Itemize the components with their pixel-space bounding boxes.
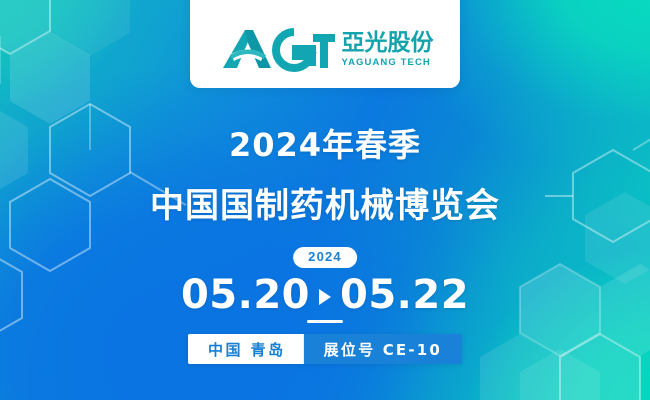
date-range: 05.20 05.22 — [0, 272, 650, 318]
logo-company-name-en: YAGUANG TECH — [342, 58, 431, 68]
date-start: 05.20 — [181, 272, 310, 318]
date-end: 05.22 — [340, 272, 469, 318]
hex-outline-group-right — [520, 130, 650, 400]
logo-company-name-cn: 亞光股份 — [342, 32, 434, 55]
date-underline-rule — [307, 320, 343, 323]
hex-fill-group-left — [0, 0, 130, 196]
exhibition-banner: 亞光股份 YAGUANG TECH 2024年春季 中国国制药机械博览会 202… — [0, 0, 650, 400]
play-triangle-icon — [319, 289, 331, 305]
title-line-event: 中国国制药机械博览会 — [0, 178, 650, 227]
agt-monogram-icon — [217, 28, 335, 72]
logo-text-block: 亞光股份 YAGUANG TECH — [342, 32, 434, 68]
info-bar: 中国 青岛 展位号 CE-10 — [188, 334, 462, 364]
title-line-season: 2024年春季 — [0, 120, 650, 166]
logo-card: 亞光股份 YAGUANG TECH — [190, 0, 460, 88]
info-location: 中国 青岛 — [188, 334, 304, 364]
year-badge: 2024 — [293, 247, 357, 268]
logo-lockup: 亞光股份 YAGUANG TECH — [217, 28, 434, 72]
info-booth-number: 展位号 CE-10 — [304, 334, 462, 364]
